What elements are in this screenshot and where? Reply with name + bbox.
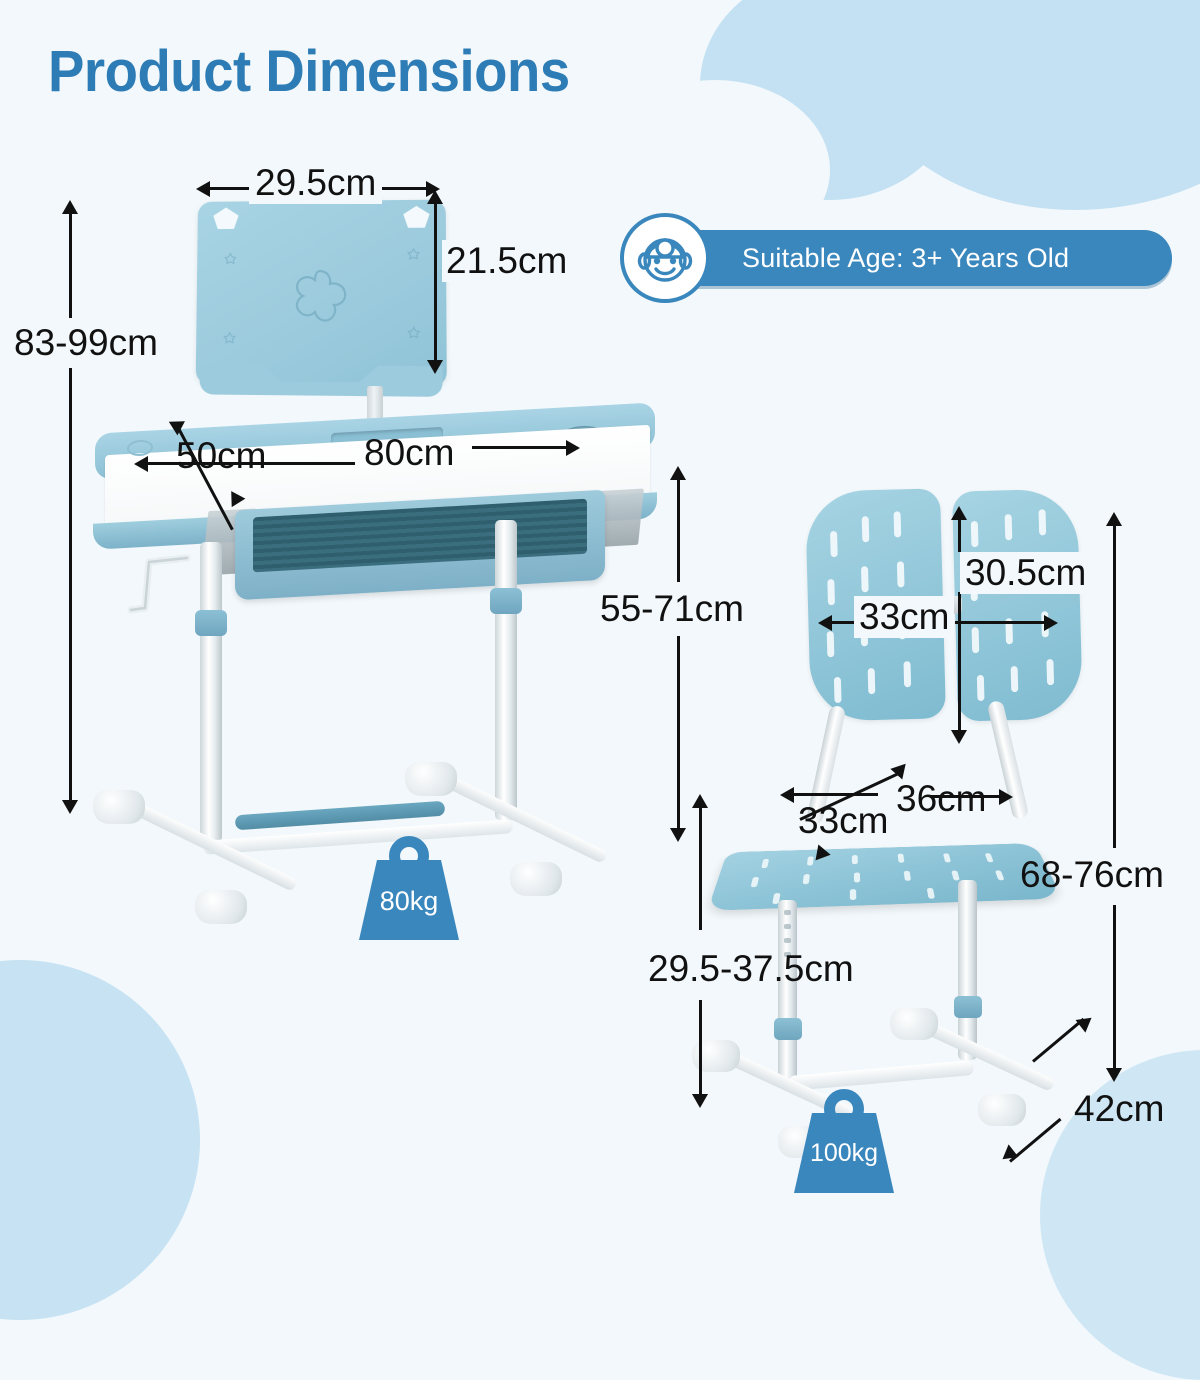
dimension-bookstand-width: 29.5cm — [249, 162, 382, 204]
chair-foot — [978, 1094, 1026, 1126]
screw-star-icon — [407, 248, 419, 260]
dimension-seat-width: 33cm — [798, 800, 888, 842]
desk-bookstand — [196, 200, 447, 387]
dimline-desk-height-lower — [677, 636, 680, 836]
chair-leg-collar-left — [774, 1018, 802, 1040]
arrow-down — [1106, 1068, 1122, 1082]
arrow-right — [1044, 615, 1058, 631]
desk-foot — [93, 790, 145, 824]
cloud-decoration-top-right — [850, 0, 1200, 210]
bookstand-notch-left — [213, 207, 239, 229]
dimline-chair-height-lower — [1113, 905, 1116, 1075]
desk-foot — [510, 862, 562, 896]
dimension-desk-total-height: 83-99cm — [14, 322, 158, 364]
infographic-canvas: Product Dimensions Suitable Age: 3+ Year… — [0, 0, 1200, 1200]
desk-illustration — [85, 190, 665, 940]
circle-decoration-bottom-left — [0, 960, 200, 1320]
suitable-age-badge: Suitable Age: 3+ Years Old — [632, 230, 1172, 286]
arrow-up — [951, 506, 967, 520]
arrow-left — [780, 787, 794, 803]
arrow-up — [692, 794, 708, 808]
crank-handle-icon — [123, 548, 193, 624]
chair-foot — [890, 1008, 938, 1040]
flower-emboss-icon — [289, 265, 351, 327]
dimline-desk-total-height-lower — [69, 368, 72, 808]
arrow-down — [951, 730, 967, 744]
desk-drawer — [235, 490, 605, 601]
dimension-seat-depth: 36cm — [896, 778, 986, 820]
chair-backrest-right-panel — [952, 488, 1083, 721]
arrow-left — [196, 181, 210, 197]
dimline-seat-width — [790, 793, 878, 796]
dimline-backrest-width-b — [955, 621, 1050, 624]
dimline-backrest-height-lower — [958, 592, 961, 738]
bookstand-notch-right — [403, 206, 429, 228]
dimline-seat-height-upper — [699, 800, 702, 930]
dimline-chair-height-upper — [1113, 518, 1116, 848]
dimension-desktop-depth: 50cm — [176, 435, 266, 477]
page-title: Product Dimensions — [48, 38, 570, 105]
bookstand-lip — [199, 364, 442, 396]
chair-leg-right — [958, 880, 977, 1060]
arrow-left — [818, 615, 832, 631]
chair-leg-collar-right — [954, 996, 982, 1018]
chair-weight-capacity-label: 100kg — [790, 1139, 898, 1168]
dimline-seat-height-lower — [699, 1000, 702, 1100]
desk-leg-right — [495, 520, 517, 820]
arrow-up — [427, 190, 443, 204]
arrow-right — [566, 440, 580, 456]
screw-star-icon — [224, 253, 236, 265]
arrow-up — [670, 466, 686, 480]
screw-star-icon — [408, 326, 420, 338]
suitable-age-label: Suitable Age: 3+ Years Old — [742, 230, 1069, 286]
dimension-backrest-height: 30.5cm — [960, 552, 1091, 594]
drawer-interior — [253, 499, 587, 573]
arrow-down — [62, 800, 78, 814]
dimension-base-depth: 42cm — [1074, 1088, 1164, 1130]
arrow-up — [1106, 512, 1122, 526]
dimension-desk-height: 55-71cm — [600, 588, 744, 630]
arrow-down — [692, 1094, 708, 1108]
dimension-seat-height: 29.5-37.5cm — [648, 948, 854, 990]
desk-leg-collar-left — [195, 610, 227, 636]
desk-foot — [195, 890, 247, 924]
arrow-left — [134, 456, 148, 472]
dimline-desk-height-upper — [677, 472, 680, 582]
dimension-bookstand-height: 21.5cm — [442, 240, 571, 282]
dimension-chair-total-height: 68-76cm — [1020, 854, 1164, 896]
arrow-down — [427, 360, 443, 374]
desk-foot — [405, 762, 457, 796]
dimline-bookstand-height — [434, 196, 437, 366]
desk-weight-capacity-badge: 80kg — [355, 832, 463, 940]
dimline-desktop-width-left — [145, 462, 355, 465]
desk-leg-left — [200, 542, 222, 842]
chair-weight-capacity-badge: 100kg — [790, 1085, 898, 1193]
screw-star-icon — [224, 332, 236, 344]
dimline-desktop-width-right — [472, 446, 572, 449]
dimension-backrest-width: 33cm — [854, 596, 954, 638]
dimline-desk-total-height-upper — [69, 206, 72, 318]
desk-weight-capacity-label: 80kg — [355, 886, 463, 917]
arrow-right — [999, 789, 1013, 805]
dimension-desktop-width: 80cm — [364, 432, 454, 474]
arrow-down — [670, 828, 686, 842]
desk-leg-collar-right — [490, 588, 522, 614]
chair-seat — [707, 843, 1062, 911]
arrow-up — [62, 200, 78, 214]
